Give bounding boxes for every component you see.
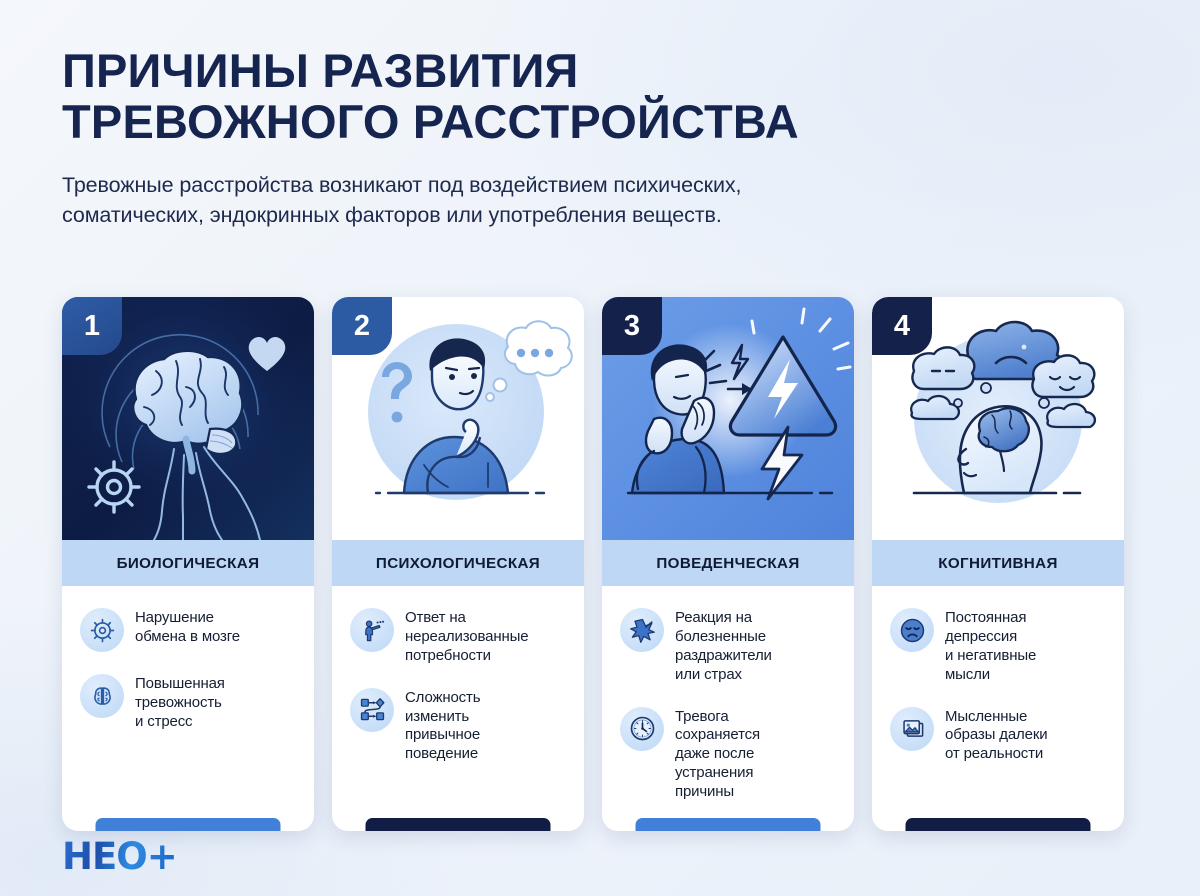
card-label: БИОЛОГИЧЕСКАЯ <box>62 540 314 586</box>
card-number-badge: 4 <box>872 297 932 355</box>
bullet-text: Ответ на нереализованные потребности <box>405 608 528 666</box>
flowchart-icon <box>350 688 394 732</box>
page-subtitle: Тревожные расстройства возникают под воз… <box>62 170 1200 231</box>
sad-face-icon <box>890 608 934 652</box>
card-cognitive[interactable]: 4 КОГНИТИВНАЯ Постоянная депрессия и нег… <box>872 297 1124 831</box>
burst-icon <box>620 608 664 652</box>
bullet-item: Нарушение обмена в мозге <box>80 608 297 652</box>
card-accent-bar <box>906 818 1091 831</box>
brain-icon <box>80 674 124 718</box>
card-bullets: Постоянная депрессия и негативные мысли … <box>872 586 1124 831</box>
bullet-item: Сложность изменить привычное поведение <box>350 688 567 765</box>
card-label: ПОВЕДЕНЧЕСКАЯ <box>602 540 854 586</box>
bullet-item: Мысленные образы далеки от реальности <box>890 707 1107 765</box>
bullet-item: Ответ на нереализованные потребности <box>350 608 567 666</box>
gear-metabolism-icon <box>80 608 124 652</box>
illustration-head-thought-clouds: 4 <box>872 297 1124 540</box>
cards-grid: 1 БИОЛОГИЧЕСКАЯ <box>62 297 1124 831</box>
bullet-item: Повышенная тревожность и стресс <box>80 674 297 732</box>
bullet-text: Тревога сохраняется даже после устранени… <box>675 707 760 802</box>
person-reaching-icon <box>350 608 394 652</box>
clock-icon <box>620 707 664 751</box>
card-label: КОГНИТИВНАЯ <box>872 540 1124 586</box>
card-number-badge: 3 <box>602 297 662 355</box>
card-number-badge: 1 <box>62 297 122 355</box>
bullet-text: Реакция на болезненные раздражители или … <box>675 608 772 685</box>
bullet-text: Сложность изменить привычное поведение <box>405 688 480 765</box>
card-number-badge: 2 <box>332 297 392 355</box>
bullet-text: Повышенная тревожность и стресс <box>135 674 225 732</box>
illustration-thinking-man: 2 <box>332 297 584 540</box>
header: ПРИЧИНЫ РАЗВИТИЯ ТРЕВОЖНОГО РАССТРОЙСТВА… <box>0 0 1200 231</box>
card-accent-bar <box>636 818 821 831</box>
card-accent-bar <box>366 818 551 831</box>
bullet-text: Нарушение обмена в мозге <box>135 608 240 647</box>
bullet-item: Реакция на болезненные раздражители или … <box>620 608 837 685</box>
bullet-item: Постоянная депрессия и негативные мысли <box>890 608 1107 685</box>
illustration-man-covering-ears-warning: 3 <box>602 297 854 540</box>
card-behavioral[interactable]: 3 ПОВЕДЕНЧЕСКАЯ Реакция на болезненные р… <box>602 297 854 831</box>
card-biological[interactable]: 1 БИОЛОГИЧЕСКАЯ <box>62 297 314 831</box>
brand-logo: НЕО+ <box>62 835 177 878</box>
bullet-text: Мысленные образы далеки от реальности <box>945 707 1047 765</box>
page-title: ПРИЧИНЫ РАЗВИТИЯ ТРЕВОЖНОГО РАССТРОЙСТВА <box>62 46 1200 148</box>
photos-icon <box>890 707 934 751</box>
card-psychological[interactable]: 2 ПСИХОЛОГИЧЕСКАЯ Ответ на нереализованн… <box>332 297 584 831</box>
card-bullets: Ответ на нереализованные потребности <box>332 586 584 831</box>
card-label: ПСИХОЛОГИЧЕСКАЯ <box>332 540 584 586</box>
bullet-text: Постоянная депрессия и негативные мысли <box>945 608 1036 685</box>
card-bullets: Реакция на болезненные раздражители или … <box>602 586 854 831</box>
card-accent-bar <box>96 818 281 831</box>
illustration-brain-neural-dark: 1 <box>62 297 314 540</box>
card-bullets: Нарушение обмена в мозге <box>62 586 314 831</box>
bullet-item: Тревога сохраняется даже после устранени… <box>620 707 837 802</box>
